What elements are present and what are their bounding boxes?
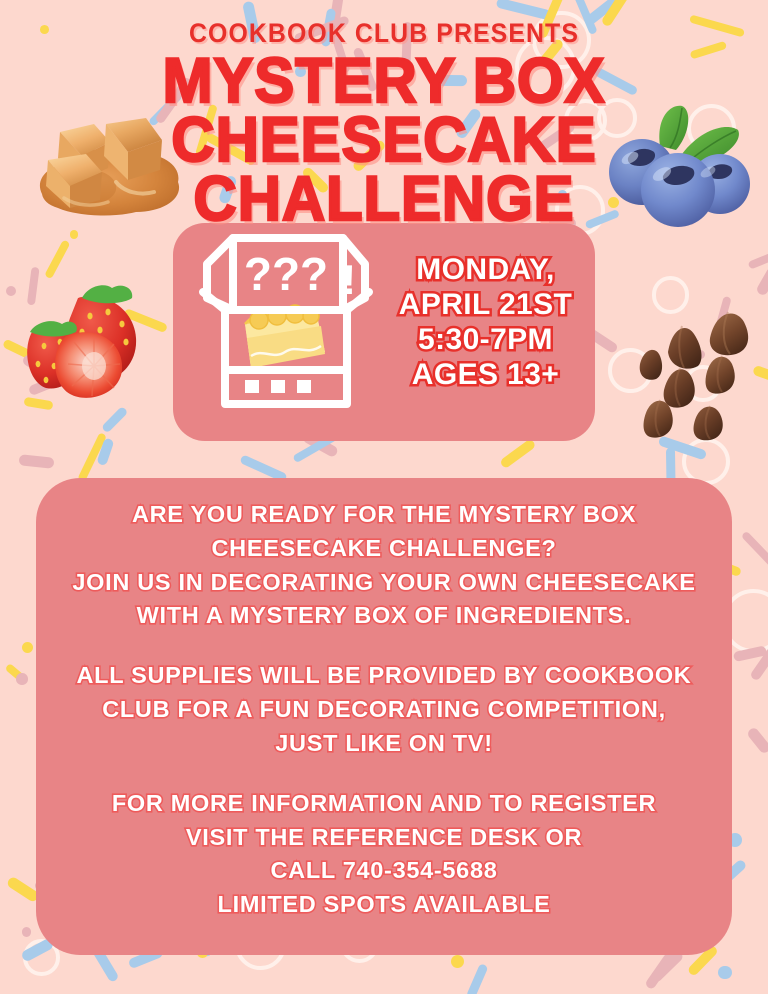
sprinkle-dash [101, 406, 128, 433]
sprinkle-dot [70, 230, 78, 238]
sprinkle-dot [16, 673, 28, 685]
description-paragraph-2: ALL SUPPLIES WILL BE PROVIDED BY COOKBOO… [36, 659, 732, 760]
sprinkle-dash [747, 251, 768, 270]
paragraph1-line-1: ARE YOU READY FOR THE MYSTERY BOX [36, 498, 732, 532]
event-time: 5:30-7PM [383, 322, 588, 357]
chocolate-chips-image [632, 302, 766, 450]
exclaim-text: ! [342, 256, 356, 303]
paragraph2-line-3: JUST LIKE ON TV! [36, 727, 732, 761]
paragraph2-line-1: ALL SUPPLIES WILL BE PROVIDED BY COOKBOO… [36, 659, 732, 693]
mystery-box-icon: ??? ! [193, 228, 379, 414]
title-line-3: CHALLENGE [19, 170, 749, 229]
description-paragraph-3: FOR MORE INFORMATION AND TO REGISTER VIS… [36, 787, 732, 922]
mystery-marks-text: ??? [244, 248, 328, 300]
paragraph1-line-3: JOIN US IN DECORATING YOUR OWN CHEESECAK… [36, 566, 732, 600]
sprinkle-dot [22, 642, 33, 653]
sprinkle-dash [499, 438, 537, 469]
sprinkle-dot [718, 966, 731, 979]
paragraph1-line-4: WITH A MYSTERY BOX OF INGREDIENTS. [36, 599, 732, 633]
sprinkle-dash [96, 437, 114, 466]
paragraph3-line-2: VISIT THE REFERENCE DESK OR [36, 821, 732, 855]
sprinkle-dash [4, 663, 29, 686]
sprinkle-dash [746, 726, 768, 755]
contact-phone-line: CALL 740-354-5688 [36, 854, 732, 888]
event-day: MONDAY, [383, 252, 588, 287]
sprinkle-dot [22, 927, 32, 937]
paragraph1-line-2: CHEESECAKE CHALLENGE? [36, 532, 732, 566]
sprinkle-dash [755, 266, 768, 296]
sprinkle-dash [18, 455, 54, 470]
limited-spots-line: LIMITED SPOTS AVAILABLE [36, 888, 732, 922]
description-paragraph-1: ARE YOU READY FOR THE MYSTERY BOX CHEESE… [36, 498, 732, 633]
description-text: ARE YOU READY FOR THE MYSTERY BOX CHEESE… [36, 498, 732, 922]
sprinkle-dash [734, 646, 768, 662]
sprinkle-dash [77, 432, 107, 482]
event-schedule: MONDAY, APRIL 21ST 5:30-7PM AGES 13+ [383, 252, 588, 392]
sprinkle-dash [750, 628, 768, 681]
paragraph3-line-1: FOR MORE INFORMATION AND TO REGISTER [36, 787, 732, 821]
flyer-poster: COOKBOOK CLUB PRESENTS MYSTERY BOX CHEES… [0, 0, 768, 994]
event-date: APRIL 21ST [383, 287, 588, 322]
sprinkle-dash [466, 964, 489, 994]
sprinkle-dot [451, 955, 464, 968]
sprinkle-dash [645, 952, 676, 990]
strawberries-image [12, 268, 164, 404]
title-line-2: CHEESECAKE [19, 111, 749, 170]
title-line-1: MYSTERY BOX [19, 52, 749, 111]
presenter-line: COOKBOOK CLUB PRESENTS [31, 18, 738, 49]
sprinkle-dash [741, 530, 768, 571]
event-ages: AGES 13+ [383, 357, 588, 392]
paragraph2-line-2: CLUB FOR A FUN DECORATING COMPETITION, [36, 693, 732, 727]
page-title: MYSTERY BOX CHEESECAKE CHALLENGE [0, 52, 768, 230]
